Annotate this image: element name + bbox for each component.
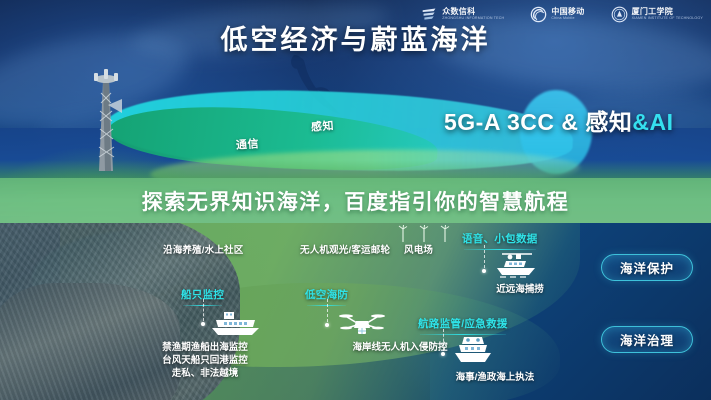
logo-label-en: ZHONGSHU INFORMATION TECH — [442, 17, 504, 21]
fishing-boat-icon — [492, 251, 540, 281]
scene-label-coastal-aquaculture: 沿海养殖/水上社区 — [163, 242, 243, 256]
connector-line — [203, 299, 204, 321]
capability-title-route-supervision-emergency-rescue: 航路监管/应急救援 — [418, 316, 508, 331]
connector-line — [443, 329, 444, 351]
page-title: 低空经济与蔚蓝海洋 — [0, 18, 711, 57]
tech-stack-main: 5G-A 3CC & 感知 — [444, 109, 632, 135]
logo-label-en: China Mobile — [551, 17, 584, 21]
zhongshu-logo-icon — [421, 6, 438, 23]
5g-tower-icon — [88, 63, 124, 175]
connector-line — [484, 245, 485, 268]
connector-line — [327, 299, 328, 322]
capability-details-voice-small-packet-data: 近远海捕捞 — [440, 283, 600, 296]
wind-turbine-icon — [440, 225, 450, 242]
promo-banner: 探索无界知识海洋，百度指引你的智慧航程 — [0, 178, 711, 223]
detail-line: 近远海捕捞 — [440, 283, 600, 296]
connector-dot — [325, 323, 329, 327]
scene-label-wind-farm: 风电场 — [404, 242, 433, 256]
beam-label-sensing: 感知 — [310, 117, 334, 135]
logo-label-cn: 厦门工学院 — [632, 8, 703, 16]
pill-ocean-governance[interactable]: 海洋治理 — [601, 326, 693, 353]
detail-line: 走私、非法越境 — [60, 367, 350, 380]
capability-title-voice-small-packet-data: 语音、小包数据 — [462, 231, 538, 246]
tech-stack-accent: &AI — [632, 109, 673, 135]
promo-banner-text: 探索无界知识海洋，百度指引你的智慧航程 — [142, 186, 570, 216]
connector-dot — [201, 322, 205, 326]
china-mobile-logo-icon — [530, 6, 547, 23]
connector-dot — [482, 269, 486, 273]
logo-label-cn: 中国移动 — [551, 8, 584, 16]
slide-canvas: 通信 感知 低空经济与蔚蓝海洋 5G-A 3CC & 感知&AI 众数信科 ZH… — [0, 0, 711, 400]
wind-turbine-group — [398, 225, 450, 242]
pill-ocean-protection[interactable]: 海洋保护 — [601, 254, 693, 281]
logo-zhongshu-xinke: 众数信科 ZHONGSHU INFORMATION TECH — [421, 6, 504, 23]
wind-turbine-icon — [398, 225, 408, 242]
logo-china-mobile: 中国移动 China Mobile — [530, 6, 584, 23]
detail-line: 海事/渔政海上执法 — [400, 371, 590, 384]
patrol-boat-icon — [452, 335, 494, 365]
beam-label-communication: 通信 — [235, 135, 259, 153]
capability-details-route-supervision-emergency-rescue: 海事/渔政海上执法 — [400, 371, 590, 384]
lower-scene: 沿海养殖/水上社区 无人机观光/客运邮轮 风电场 船只监控 禁渔期渔船出海监控 … — [0, 223, 711, 400]
xiamen-institute-logo-icon — [611, 6, 628, 23]
partner-logo-bar: 众数信科 ZHONGSHU INFORMATION TECH 中国移动 Chin… — [421, 6, 703, 23]
tech-stack-label: 5G-A 3CC & 感知&AI — [444, 103, 674, 137]
connector-dot — [441, 352, 445, 356]
wind-turbine-icon — [419, 225, 429, 242]
detail-line: 台风天船只回港监控 — [60, 354, 350, 367]
logo-xiamen-institute-of-technology: 厦门工学院 XIAMEN INSTITUTE OF TECHNOLOGY — [611, 6, 703, 23]
drone-icon — [338, 310, 386, 338]
ship-icon — [210, 311, 262, 337]
logo-label-cn: 众数信科 — [442, 8, 504, 16]
scene-label-drone-tourism-cruise: 无人机观光/客运邮轮 — [300, 242, 390, 256]
logo-label-en: XIAMEN INSTITUTE OF TECHNOLOGY — [632, 17, 703, 21]
